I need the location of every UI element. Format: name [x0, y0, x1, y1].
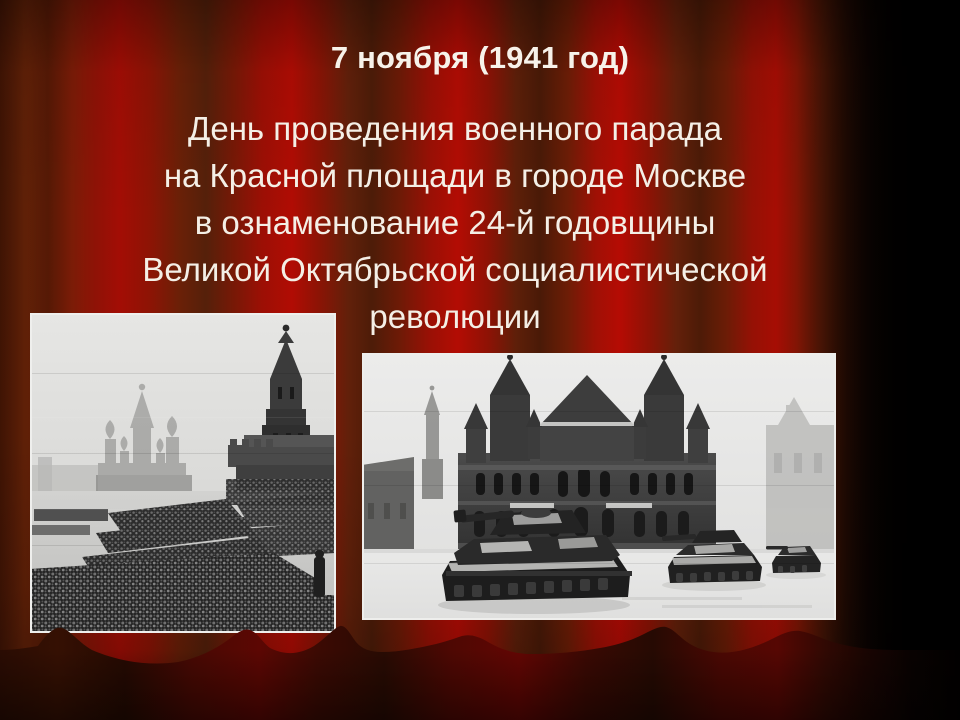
body-line-2: на Красной площади в городе Москве	[25, 152, 885, 199]
slide-body-text: День проведения военного парада на Красн…	[25, 105, 885, 340]
photo-tanks-historical-museum	[362, 353, 836, 620]
photo-red-square-parade	[30, 313, 336, 633]
body-line-3: в ознаменование 24-й годовщины	[25, 199, 885, 246]
body-line-4: Великой Октябрьской социалистической	[25, 246, 885, 293]
slide-canvas: 7 ноября (1941 год) День проведения воен…	[0, 0, 960, 720]
body-line-1: День проведения военного парада	[25, 105, 885, 152]
bottom-wave-band	[0, 610, 960, 720]
slide-title: 7 ноября (1941 год)	[0, 40, 960, 76]
